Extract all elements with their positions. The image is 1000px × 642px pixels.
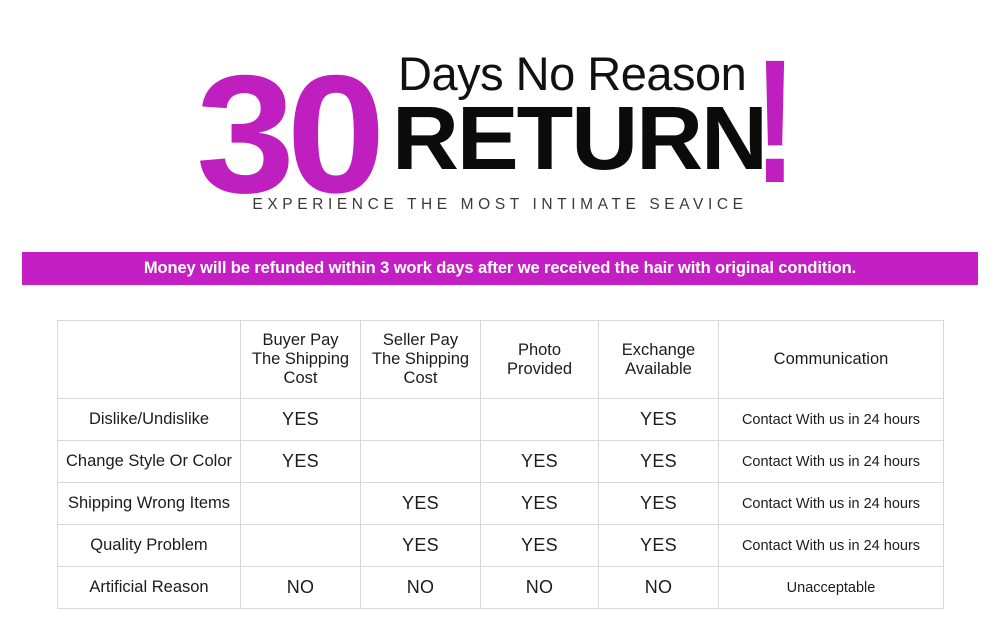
cell-exchange-available: YES — [599, 441, 719, 483]
table-row: Dislike/Undislike YES YES Contact With u… — [58, 399, 944, 441]
cell-seller-pay — [361, 441, 481, 483]
table-header-row: Buyer Pay The Shipping Cost Seller Pay T… — [58, 321, 944, 399]
return-policy-table: Buyer Pay The Shipping Cost Seller Pay T… — [57, 320, 944, 609]
cell-buyer-pay: YES — [241, 441, 361, 483]
cell-communication: Contact With us in 24 hours — [719, 399, 944, 441]
table-row: Change Style Or Color YES YES YES Contac… — [58, 441, 944, 483]
hero-number-30: 30 — [196, 50, 377, 218]
cell-reason: Artificial Reason — [58, 567, 241, 609]
cell-reason: Dislike/Undislike — [58, 399, 241, 441]
cell-exchange-available: YES — [599, 399, 719, 441]
cell-photo-provided: NO — [481, 567, 599, 609]
column-header-seller-pay: Seller Pay The Shipping Cost — [361, 321, 481, 399]
refund-policy-banner: Money will be refunded within 3 work day… — [22, 252, 978, 285]
column-header-photo-provided-line-2: Provided — [481, 360, 598, 379]
cell-reason: Shipping Wrong Items — [58, 483, 241, 525]
table-row: Artificial Reason NO NO NO NO Unacceptab… — [58, 567, 944, 609]
column-header-seller-pay-line-3: Cost — [361, 369, 480, 388]
cell-buyer-pay — [241, 525, 361, 567]
cell-seller-pay: YES — [361, 483, 481, 525]
column-header-reason — [58, 321, 241, 399]
cell-photo-provided: YES — [481, 525, 599, 567]
cell-exchange-available: NO — [599, 567, 719, 609]
hero-return-text: RETURN — [392, 94, 766, 184]
column-header-buyer-pay: Buyer Pay The Shipping Cost — [241, 321, 361, 399]
cell-reason: Change Style Or Color — [58, 441, 241, 483]
hero-tagline: EXPERIENCE THE MOST INTIMATE SEAVICE — [0, 196, 1000, 214]
column-header-buyer-pay-line-1: Buyer Pay — [241, 331, 360, 350]
cell-reason: Quality Problem — [58, 525, 241, 567]
return-policy-table-wrapper: Buyer Pay The Shipping Cost Seller Pay T… — [57, 320, 943, 609]
cell-seller-pay: NO — [361, 567, 481, 609]
column-header-exchange-available-line-2: Available — [599, 360, 718, 379]
cell-buyer-pay: YES — [241, 399, 361, 441]
hero-exclamation-mark: ! — [754, 34, 796, 210]
cell-seller-pay: YES — [361, 525, 481, 567]
refund-policy-banner-text: Money will be refunded within 3 work day… — [144, 259, 856, 278]
cell-buyer-pay: NO — [241, 567, 361, 609]
cell-communication: Contact With us in 24 hours — [719, 441, 944, 483]
column-header-seller-pay-line-1: Seller Pay — [361, 331, 480, 350]
cell-buyer-pay — [241, 483, 361, 525]
table-body: Dislike/Undislike YES YES Contact With u… — [58, 399, 944, 609]
column-header-buyer-pay-line-3: Cost — [241, 369, 360, 388]
cell-communication: Contact With us in 24 hours — [719, 525, 944, 567]
column-header-exchange-available: Exchange Available — [599, 321, 719, 399]
cell-exchange-available: YES — [599, 525, 719, 567]
cell-communication: Contact With us in 24 hours — [719, 483, 944, 525]
column-header-exchange-available-line-1: Exchange — [599, 341, 718, 360]
cell-photo-provided: YES — [481, 441, 599, 483]
table-row: Shipping Wrong Items YES YES YES Contact… — [58, 483, 944, 525]
hero-lockup: 30 Days No Reason RETURN ! — [0, 28, 1000, 188]
cell-seller-pay — [361, 399, 481, 441]
cell-photo-provided: YES — [481, 483, 599, 525]
cell-exchange-available: YES — [599, 483, 719, 525]
return-policy-hero: 30 Days No Reason RETURN ! EXPERIENCE TH… — [0, 0, 1000, 240]
column-header-photo-provided: Photo Provided — [481, 321, 599, 399]
cell-communication: Unacceptable — [719, 567, 944, 609]
table-header: Buyer Pay The Shipping Cost Seller Pay T… — [58, 321, 944, 399]
table-row: Quality Problem YES YES YES Contact With… — [58, 525, 944, 567]
column-header-photo-provided-line-1: Photo — [481, 341, 598, 360]
column-header-communication-line-1: Communication — [719, 350, 943, 369]
column-header-buyer-pay-line-2: The Shipping — [241, 350, 360, 369]
column-header-communication: Communication — [719, 321, 944, 399]
cell-photo-provided — [481, 399, 599, 441]
column-header-seller-pay-line-2: The Shipping — [361, 350, 480, 369]
